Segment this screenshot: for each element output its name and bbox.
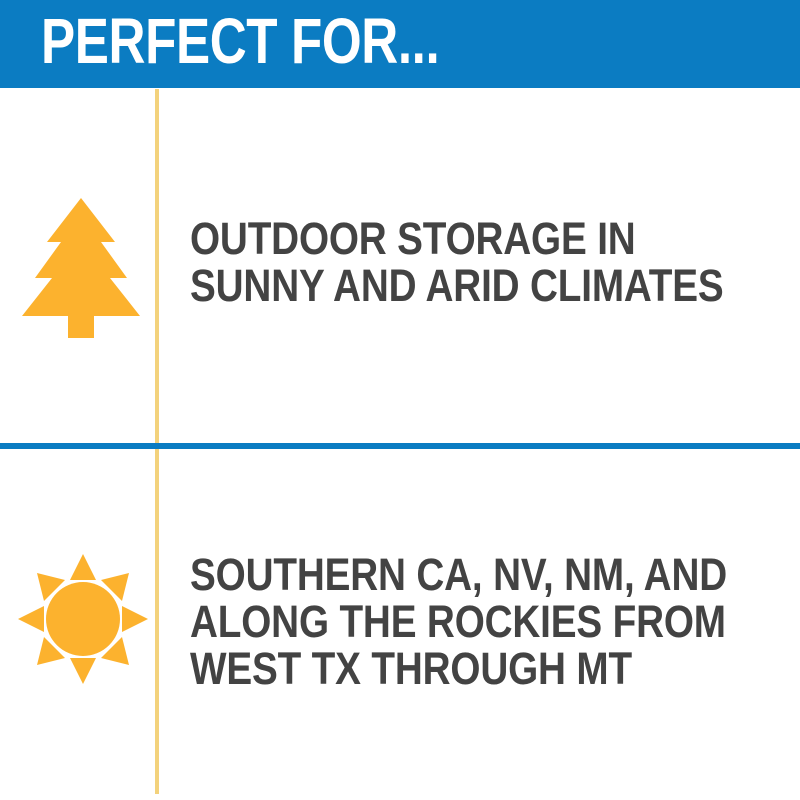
icon-cell-sun: [0, 449, 155, 800]
header-banner: PERFECT FOR...: [0, 0, 800, 88]
page-title: PERFECT FOR...: [41, 5, 439, 77]
feature-line: OUTDOOR STORAGE IN: [190, 215, 724, 262]
text-cell-regions: SOUTHERN CA, NV, NM, AND ALONG THE ROCKI…: [190, 449, 790, 800]
sun-icon: [18, 554, 148, 684]
icon-cell-tree: [0, 89, 155, 443]
feature-row-regions: SOUTHERN CA, NV, NM, AND ALONG THE ROCKI…: [0, 449, 800, 800]
feature-line: WEST TX THROUGH MT: [190, 645, 727, 692]
feature-text-regions: SOUTHERN CA, NV, NM, AND ALONG THE ROCKI…: [190, 551, 800, 692]
column-divider: [155, 89, 159, 794]
feature-line: SOUTHERN CA, NV, NM, AND: [190, 551, 727, 598]
pine-tree-icon: [22, 198, 140, 338]
perfect-for-infographic: PERFECT FOR... OUTDOOR STORAGE IN SUNNY …: [0, 0, 800, 800]
feature-line: SUNNY AND ARID CLIMATES: [190, 262, 724, 309]
feature-text-outdoor-storage: OUTDOOR STORAGE IN SUNNY AND ARID CLIMAT…: [190, 215, 800, 309]
feature-line: ALONG THE ROCKIES FROM: [190, 598, 727, 645]
feature-row-outdoor-storage: OUTDOOR STORAGE IN SUNNY AND ARID CLIMAT…: [0, 89, 800, 443]
text-cell-outdoor-storage: OUTDOOR STORAGE IN SUNNY AND ARID CLIMAT…: [190, 89, 790, 443]
section-divider: [0, 443, 800, 449]
